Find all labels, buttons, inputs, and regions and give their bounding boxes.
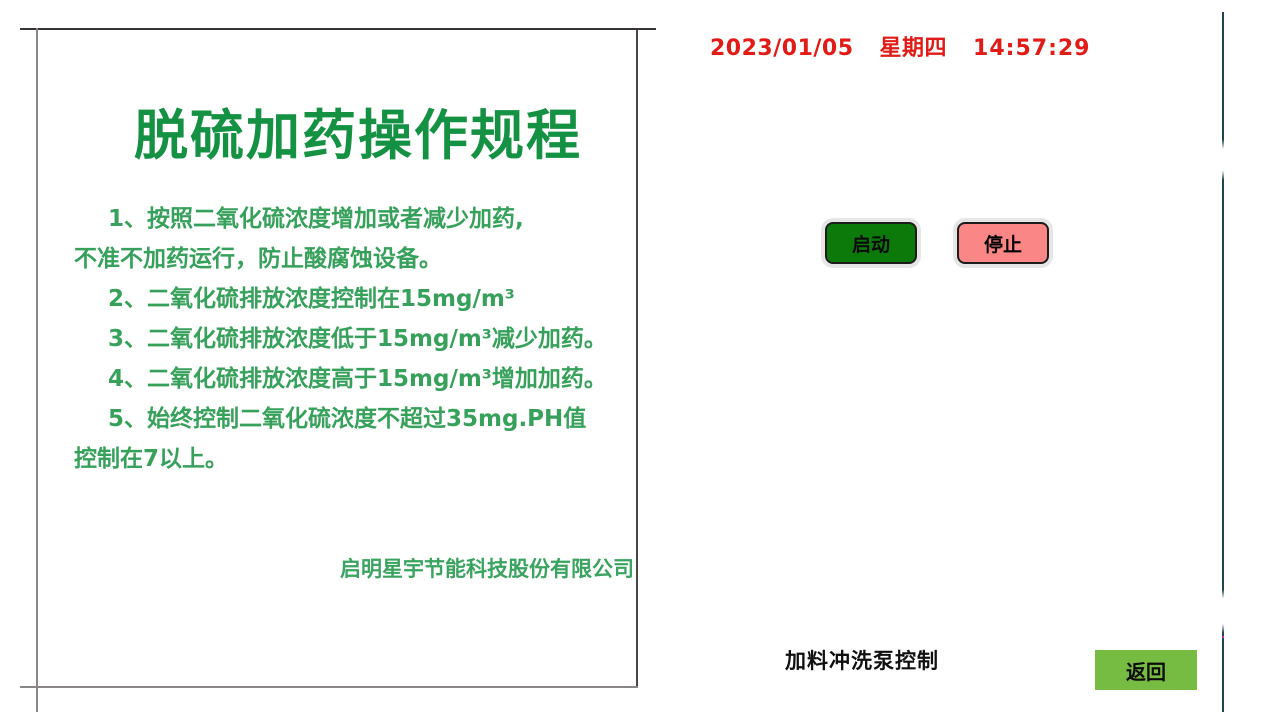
- pump-control-label: 加料冲洗泵控制: [785, 645, 939, 675]
- pump-control-panel: 2023/01/05 星期四 14:57:29 启动 停止 加料冲洗泵控制 返回: [660, 0, 1280, 720]
- stop-button[interactable]: 停止: [957, 222, 1049, 264]
- back-button[interactable]: 返回: [1095, 650, 1197, 690]
- datetime-display: 2023/01/05 星期四 14:57:29: [710, 30, 1091, 62]
- list-item: 5、始终控制二氧化硫浓度不超过35mg.PH值: [74, 399, 642, 439]
- list-item: 3、二氧化硫排放浓度低于15mg/m³减少加药。: [74, 319, 642, 359]
- date-text: 2023/01/05: [710, 36, 854, 61]
- operating-procedure-panel: 脱硫加药操作规程 1、按照二氧化硫浓度增加或者减少加药, 不准不加药运行，防止酸…: [20, 28, 656, 688]
- list-item: 1、按照二氧化硫浓度增加或者减少加药,: [74, 199, 642, 239]
- procedure-rule-list: 1、按照二氧化硫浓度增加或者减少加药, 不准不加药运行，防止酸腐蚀设备。 2、二…: [74, 199, 642, 479]
- panel-border-bottom: [20, 686, 638, 688]
- divider-marker-dot: [1222, 636, 1224, 638]
- company-signature: 启明星宇节能科技股份有限公司: [74, 553, 642, 583]
- panel-border-top: [20, 28, 656, 30]
- list-item: 2、二氧化硫排放浓度控制在15mg/m³: [74, 279, 642, 319]
- list-item: 4、二氧化硫排放浓度高于15mg/m³增加加药。: [74, 359, 642, 399]
- list-item: 不准不加药运行，防止酸腐蚀设备。: [74, 239, 642, 279]
- panel-border-left: [36, 28, 38, 712]
- page-title: 脱硫加药操作规程: [74, 60, 642, 165]
- weekday-text: 星期四: [880, 30, 948, 62]
- panel-border-right: [636, 30, 638, 688]
- hmi-screen: 脱硫加药操作规程 1、按照二氧化硫浓度增加或者减少加药, 不准不加药运行，防止酸…: [0, 0, 1280, 720]
- operating-procedure-content: 脱硫加药操作规程 1、按照二氧化硫浓度增加或者减少加药, 不准不加药运行，防止酸…: [60, 60, 656, 712]
- start-button[interactable]: 启动: [825, 222, 917, 264]
- list-item: 控制在7以上。: [74, 439, 642, 479]
- screen-divider-line: [1222, 12, 1224, 712]
- time-text: 14:57:29: [973, 36, 1090, 61]
